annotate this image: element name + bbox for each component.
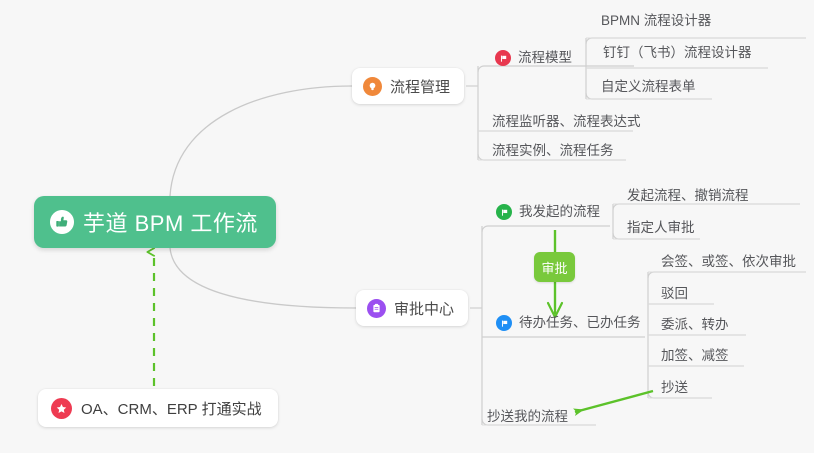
node-process-model-label: 流程模型 [518, 49, 572, 67]
node-oa-crm-erp-label: OA、CRM、ERP 打通实战 [81, 398, 262, 419]
leaf-process-listener-expression-label: 流程监听器、流程表达式 [492, 114, 641, 129]
leaf-cc[interactable]: 抄送 [661, 379, 688, 397]
node-todo-done-task[interactable]: 待办任务、已办任务 [496, 314, 641, 332]
leaf-process-listener-expression[interactable]: 流程监听器、流程表达式 [492, 113, 641, 131]
leaf-bpmn-designer[interactable]: BPMN 流程设计器 [601, 12, 711, 30]
wire-root-to-process [170, 86, 352, 196]
node-process-model[interactable]: 流程模型 [495, 49, 572, 67]
node-oa-crm-erp[interactable]: OA、CRM、ERP 打通实战 [38, 389, 278, 427]
node-my-started-process[interactable]: 我发起的流程 [496, 203, 600, 221]
wire-todo-c1 [648, 272, 806, 278]
leaf-cc-label: 抄送 [661, 380, 688, 395]
leaf-countersign-label: 会签、或签、依次审批 [661, 254, 796, 269]
leaf-delegate-transfer-label: 委派、转办 [661, 317, 729, 332]
flag-icon [496, 204, 512, 220]
leaf-start-cancel-process[interactable]: 发起流程、撤销流程 [627, 187, 749, 205]
approval-pill-label: 审批 [541, 258, 567, 277]
leaf-reject[interactable]: 驳回 [661, 285, 688, 303]
star-icon [51, 398, 72, 419]
wire-approval-to-started [482, 226, 610, 232]
leaf-dingtalk-feishu-designer[interactable]: 钉钉（飞书）流程设计器 [603, 44, 752, 62]
leaf-custom-process-form[interactable]: 自定义流程表单 [601, 78, 696, 96]
lightbulb-icon [363, 77, 382, 96]
node-todo-done-task-label: 待办任务、已办任务 [519, 314, 641, 332]
leaf-custom-process-form-label: 自定义流程表单 [601, 79, 696, 94]
flag-icon [495, 50, 511, 66]
leaf-cc-to-me-process-label: 抄送我的流程 [487, 409, 568, 424]
leaf-cc-to-me-process[interactable]: 抄送我的流程 [487, 408, 568, 426]
leaf-add-remove-sign[interactable]: 加签、减签 [661, 347, 729, 365]
wire-root-to-approval [170, 248, 356, 308]
node-approval-center[interactable]: 审批中心 [356, 290, 468, 326]
arrow-cc-to-ccme [575, 391, 653, 412]
thumbs-up-icon [50, 210, 74, 234]
approval-pill[interactable]: 审批 [534, 252, 575, 282]
root-node[interactable]: 芋道 BPM 工作流 [34, 196, 276, 248]
leaf-assignee-approval[interactable]: 指定人审批 [627, 219, 695, 237]
clipboard-icon [367, 299, 386, 318]
leaf-add-remove-sign-label: 加签、减签 [661, 348, 729, 363]
node-approval-center-label: 审批中心 [394, 298, 454, 319]
leaf-process-instance-task-label: 流程实例、流程任务 [492, 143, 614, 158]
leaf-assignee-approval-label: 指定人审批 [627, 220, 695, 235]
node-process-management-label: 流程管理 [390, 76, 450, 97]
leaf-countersign[interactable]: 会签、或签、依次审批 [661, 253, 796, 271]
flag-icon [496, 315, 512, 331]
node-process-management[interactable]: 流程管理 [352, 68, 464, 104]
node-my-started-process-label: 我发起的流程 [519, 203, 600, 221]
mindmap-canvas: 芋道 BPM 工作流 流程管理 流程模型 流程监听器、流程表达式 流程实例、流程… [0, 0, 814, 453]
leaf-dingtalk-feishu-designer-label: 钉钉（飞书）流程设计器 [603, 45, 752, 60]
leaf-start-cancel-process-label: 发起流程、撤销流程 [627, 188, 749, 203]
leaf-reject-label: 驳回 [661, 286, 688, 301]
leaf-bpmn-designer-label: BPMN 流程设计器 [601, 13, 711, 28]
leaf-process-instance-task[interactable]: 流程实例、流程任务 [492, 142, 614, 160]
leaf-delegate-transfer[interactable]: 委派、转办 [661, 316, 729, 334]
root-label: 芋道 BPM 工作流 [83, 206, 258, 238]
